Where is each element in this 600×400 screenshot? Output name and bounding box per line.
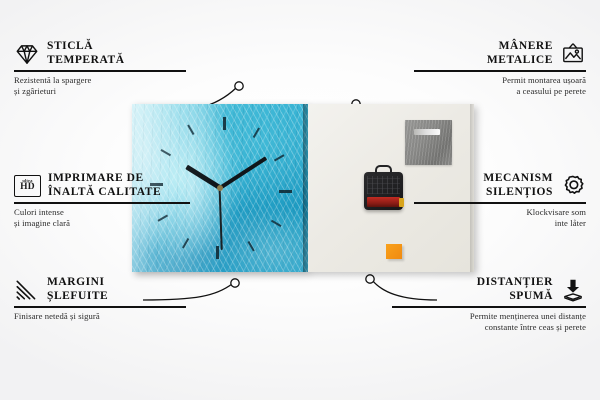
callout-high-quality-print: ultra HD IMPRIMARE DE ÎNALTĂ CALITATE Cu… (14, 172, 190, 229)
callout-metal-handles: MÂNERE METALICE Permit montarea ușoară a… (414, 40, 586, 97)
callout-title: IMPRIMARE DE ÎNALTĂ CALITATE (48, 172, 161, 199)
callout-description: Klockvisare som inte låter (414, 207, 586, 229)
mechanism-hanger-loop (375, 165, 392, 174)
clock-mechanism (364, 172, 403, 210)
metal-hanger-plate (405, 120, 452, 165)
callout-description: Culori intense și imagine clară (14, 207, 190, 229)
callout-description: Rezistentă la spargere și zgârieturi (14, 75, 186, 97)
callout-divider (392, 306, 586, 307)
callout-polished-edges: MARGINI ȘLEFUITE Finisare netedă și sigu… (14, 276, 186, 322)
ultra-hd-badge-icon: ultra HD (14, 175, 41, 197)
battery-terminal (399, 198, 404, 207)
callout-foam-spacer: DISTANȚIER SPUMĂ Permite menținerea unei… (392, 276, 586, 333)
hanger-slot (414, 129, 440, 135)
diamond-icon (14, 41, 40, 67)
callout-title: DISTANȚIER SPUMĂ (477, 276, 553, 303)
battery (367, 197, 400, 207)
callout-tempered-glass: STICLĂ TEMPERATĂ Rezistentă la spargere … (14, 40, 186, 97)
mechanism-vents (367, 176, 400, 194)
callout-divider (414, 70, 586, 71)
clock-center-cap (217, 185, 223, 191)
callout-description: Finisare netedă și sigură (14, 311, 186, 322)
callout-divider (414, 202, 586, 203)
infographic-stage: STICLĂ TEMPERATĂ Rezistentă la spargere … (0, 0, 600, 400)
picture-frame-icon (560, 41, 586, 67)
callout-title: MÂNERE METALICE (487, 40, 553, 67)
callout-divider (14, 306, 186, 307)
foam-spacer (386, 244, 402, 259)
callout-divider (14, 70, 186, 71)
gear-icon (560, 173, 586, 199)
callout-title: MECANISM SILENȚIOS (483, 172, 553, 199)
callout-title: MARGINI ȘLEFUITE (47, 276, 108, 303)
callout-title: STICLĂ TEMPERATĂ (47, 40, 125, 67)
callout-description: Permit montarea ușoară a ceasului pe per… (414, 75, 586, 97)
callout-divider (14, 202, 190, 203)
hatch-lines-icon (14, 277, 40, 303)
down-arrow-stack-icon (560, 277, 586, 303)
callout-silent-mechanism: MECANISM SILENȚIOS Klockvisare som inte … (414, 172, 586, 229)
callout-description: Permite menținerea unei distanțe constan… (392, 311, 586, 333)
connector-dot-polished-edges (231, 279, 239, 287)
connector-dot-tempered-glass (235, 82, 243, 90)
connector-dot-foam-spacer (366, 275, 374, 283)
